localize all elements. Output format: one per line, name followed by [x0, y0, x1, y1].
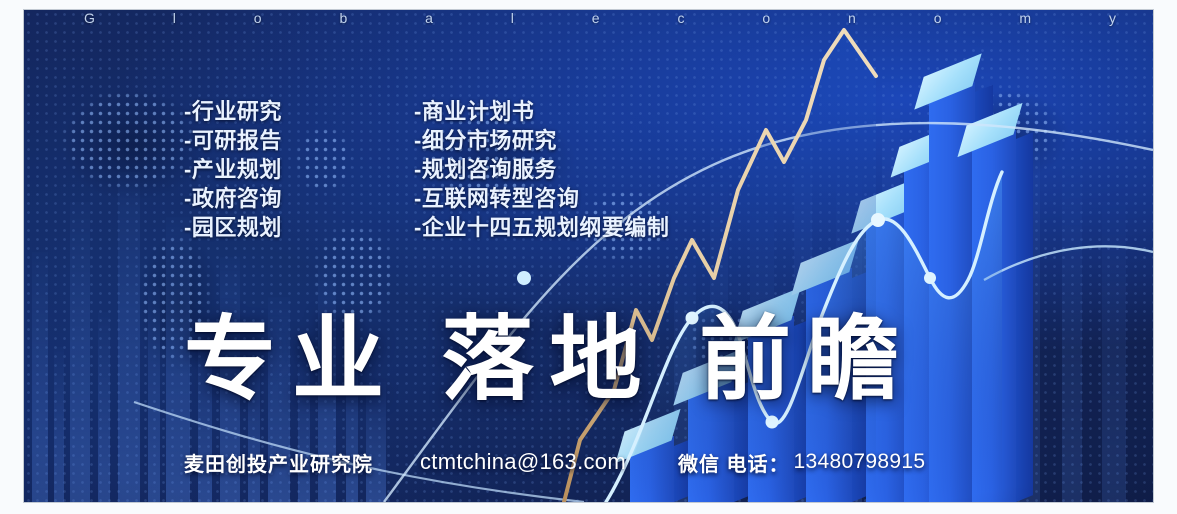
data-point: [517, 271, 531, 285]
service-item: -规划咨询服务: [414, 155, 669, 184]
service-item: -企业十四五规划纲要编制: [414, 213, 669, 242]
contact-email[interactable]: ctmtchina@163.com: [420, 449, 626, 475]
data-point: [766, 416, 779, 429]
services-column-left: -行业研究 -可研报告 -产业规划 -政府咨询 -园区规划: [184, 97, 282, 242]
data-point: [871, 213, 885, 227]
service-item: -园区规划: [184, 213, 282, 242]
services-column-right: -商业计划书 -细分市场研究 -规划咨询服务 -互联网转型咨询 -企业十四五规划…: [414, 97, 669, 242]
footer-contact-row: 麦田创投产业研究院 ctmtchina@163.com 微信 电话： 13480…: [184, 447, 925, 477]
service-item: -行业研究: [184, 97, 282, 126]
decorative-arc-right: [984, 246, 1153, 280]
kicker-global-economy: G l o b a l e c o n o m y: [84, 10, 1094, 26]
service-item: -政府咨询: [184, 184, 282, 213]
wechat-phone-label: 微信 电话：: [678, 448, 790, 477]
service-item: -产业规划: [184, 155, 282, 184]
service-item: -细分市场研究: [414, 126, 669, 155]
service-item: -互联网转型咨询: [414, 184, 669, 213]
service-item: -可研报告: [184, 126, 282, 155]
slogan-headline: 专业 落地 前瞻: [184, 310, 915, 410]
chart-line-series: [24, 10, 1153, 502]
banner-root: G l o b a l e c o n o m y -行业研究 -可研报告 -产…: [0, 0, 1177, 514]
service-item: -商业计划书: [414, 97, 669, 126]
organization-name: 麦田创投产业研究院: [184, 448, 373, 477]
poster-artboard: G l o b a l e c o n o m y -行业研究 -可研报告 -产…: [24, 10, 1153, 502]
contact-phone[interactable]: 13480798915: [790, 450, 926, 474]
data-point: [924, 272, 936, 284]
